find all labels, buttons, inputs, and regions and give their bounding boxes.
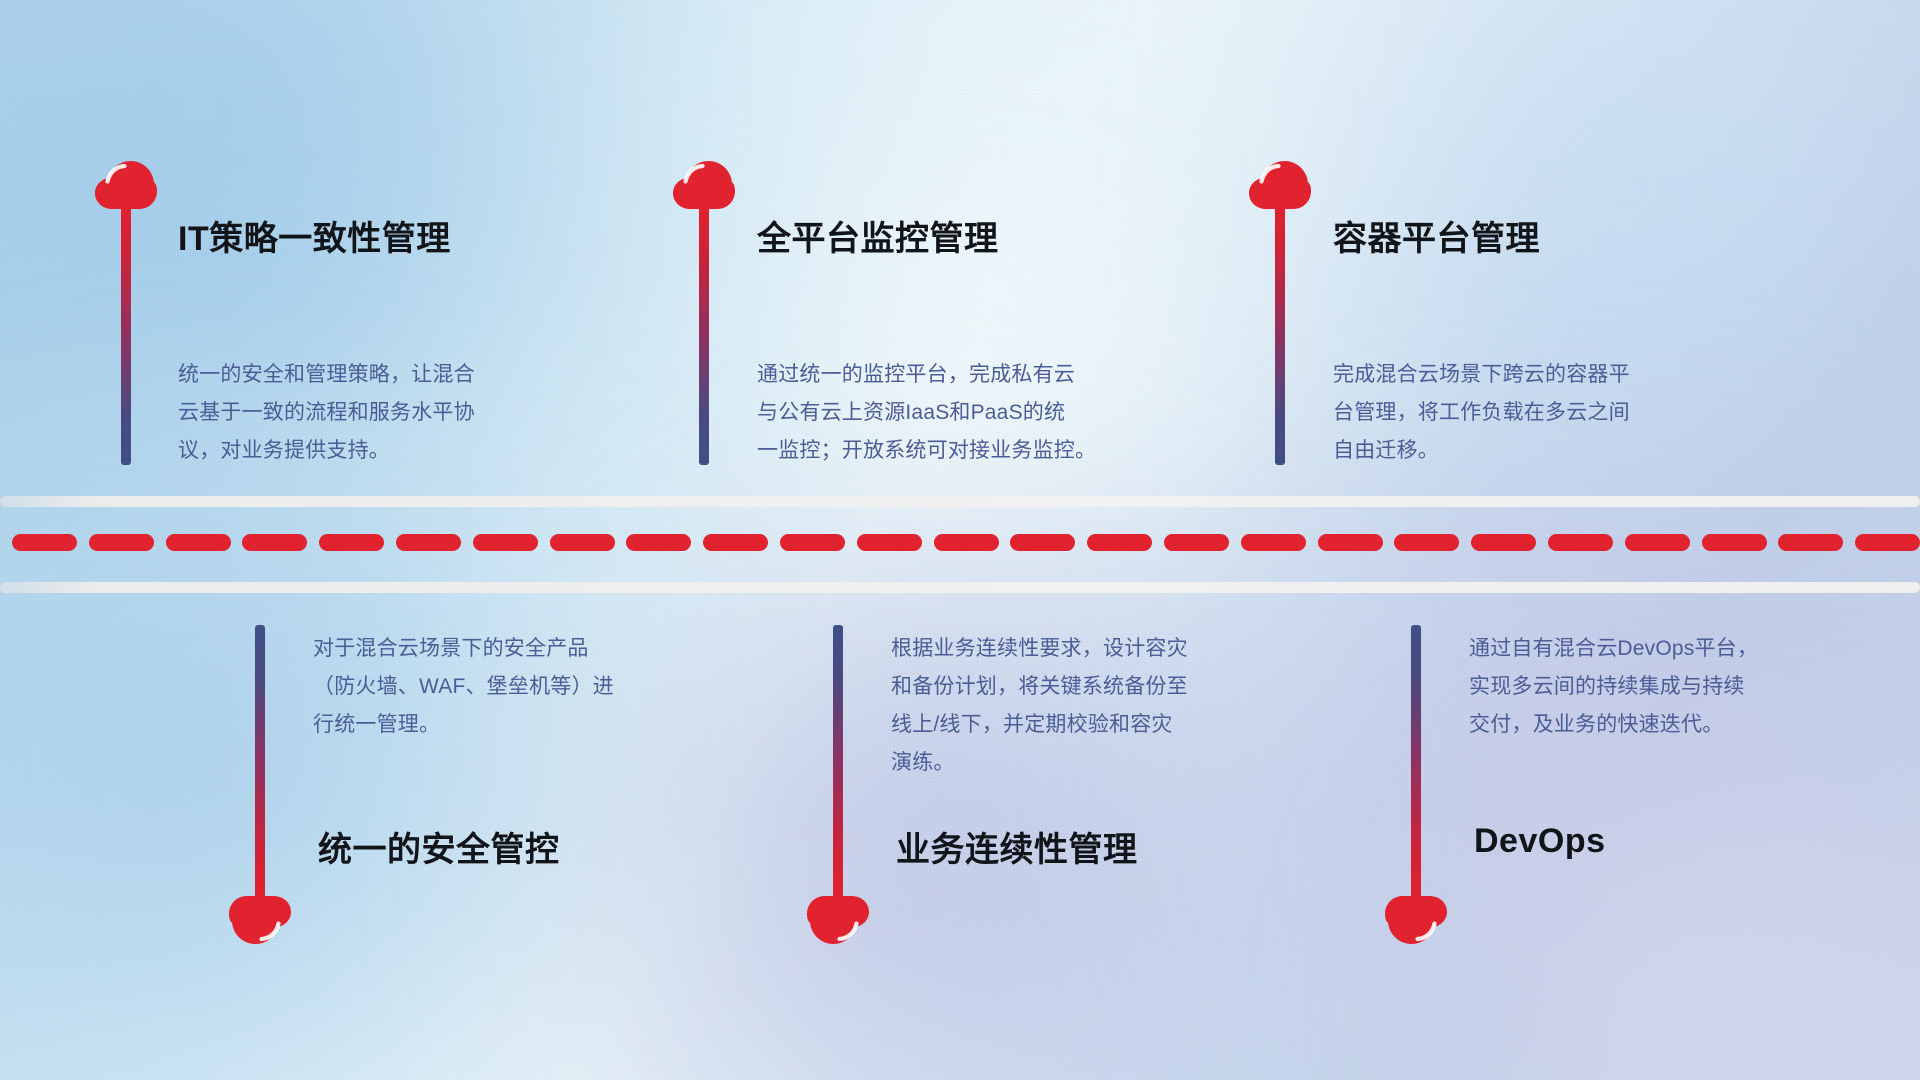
body-line: 统一的安全和管理策略，让混合: [178, 356, 578, 394]
card-heading: 业务连续性管理: [896, 822, 1138, 871]
divider-rail-bottom: [0, 582, 1920, 593]
divider-dash: [780, 534, 845, 551]
body-line: 行统一管理。: [313, 706, 713, 744]
cloud-icon: [94, 160, 158, 210]
stem-bar: [833, 625, 843, 900]
divider-dash: [396, 534, 461, 551]
card-body: 通过自有混合云DevOps平台， 实现多云间的持续集成与持续 交付，及业务的快速…: [1469, 630, 1869, 744]
body-line: 演练。: [891, 744, 1291, 782]
body-line: 实现多云间的持续集成与持续: [1469, 668, 1869, 706]
card-heading: 容器平台管理: [1333, 211, 1540, 260]
divider-dash: [166, 534, 231, 551]
body-line: 线上/线下，并定期校验和容灾: [891, 706, 1291, 744]
card-body: 统一的安全和管理策略，让混合 云基于一致的流程和服务水平协 议，对业务提供支持。: [178, 356, 578, 470]
divider-dash: [1778, 534, 1843, 551]
body-line: 台管理，将工作负载在多云之间: [1333, 394, 1733, 432]
body-line: 与公有云上资源IaaS和PaaS的统: [757, 394, 1157, 432]
body-line: 交付，及业务的快速迭代。: [1469, 706, 1869, 744]
divider-dash: [12, 534, 77, 551]
body-line: 通过自有混合云DevOps平台，: [1469, 630, 1869, 668]
divider-dash: [319, 534, 384, 551]
divider-dash: [1164, 534, 1229, 551]
body-line: 对于混合云场景下的安全产品: [313, 630, 713, 668]
cloud-icon: [806, 895, 870, 945]
body-line: 自由迁移。: [1333, 432, 1733, 470]
card-body: 完成混合云场景下跨云的容器平 台管理，将工作负载在多云之间 自由迁移。: [1333, 356, 1733, 470]
cloud-icon: [672, 160, 736, 210]
body-line: 云基于一致的流程和服务水平协: [178, 394, 578, 432]
stem-bar: [255, 625, 265, 900]
cloud-icon: [1384, 895, 1448, 945]
divider-dash: [1241, 534, 1306, 551]
divider-dash: [1318, 534, 1383, 551]
body-line: 通过统一的监控平台，完成私有云: [757, 356, 1157, 394]
divider-dash: [1548, 534, 1613, 551]
divider-dash: [857, 534, 922, 551]
divider-dash: [550, 534, 615, 551]
divider-dash: [473, 534, 538, 551]
card-heading: 统一的安全管控: [318, 822, 560, 871]
card-heading: DevOps: [1474, 822, 1606, 861]
divider-dash: [1010, 534, 1075, 551]
divider-dash: [703, 534, 768, 551]
divider-dash: [934, 534, 999, 551]
cloud-icon: [1248, 160, 1312, 210]
divider-rail-top: [0, 496, 1920, 507]
divider-dash: [1394, 534, 1459, 551]
divider-dash: [89, 534, 154, 551]
divider-dash: [1087, 534, 1152, 551]
body-line: （防火墙、WAF、堡垒机等）进: [313, 668, 713, 706]
divider-dash: [626, 534, 691, 551]
divider-dash: [1702, 534, 1767, 551]
stem-bar: [121, 205, 131, 465]
divider-dash: [1625, 534, 1690, 551]
card-heading: IT策略一致性管理: [178, 211, 451, 260]
divider-dash: [242, 534, 307, 551]
divider-band: [0, 486, 1920, 602]
stem-bar: [1411, 625, 1421, 900]
body-line: 一监控；开放系统可对接业务监控。: [757, 432, 1157, 470]
card-body: 通过统一的监控平台，完成私有云 与公有云上资源IaaS和PaaS的统 一监控；开…: [757, 356, 1157, 470]
stem-bar: [1275, 205, 1285, 465]
divider-dash: [1855, 534, 1920, 551]
body-line: 根据业务连续性要求，设计容灾: [891, 630, 1291, 668]
card-heading: 全平台监控管理: [757, 211, 999, 260]
divider-dashes: [0, 534, 1920, 551]
body-line: 和备份计划，将关键系统备份至: [891, 668, 1291, 706]
body-line: 议，对业务提供支持。: [178, 432, 578, 470]
card-body: 对于混合云场景下的安全产品 （防火墙、WAF、堡垒机等）进 行统一管理。: [313, 630, 713, 744]
stem-bar: [699, 205, 709, 465]
body-line: 完成混合云场景下跨云的容器平: [1333, 356, 1733, 394]
card-body: 根据业务连续性要求，设计容灾 和备份计划，将关键系统备份至 线上/线下，并定期校…: [891, 630, 1291, 782]
cloud-icon: [228, 895, 292, 945]
divider-dash: [1471, 534, 1536, 551]
